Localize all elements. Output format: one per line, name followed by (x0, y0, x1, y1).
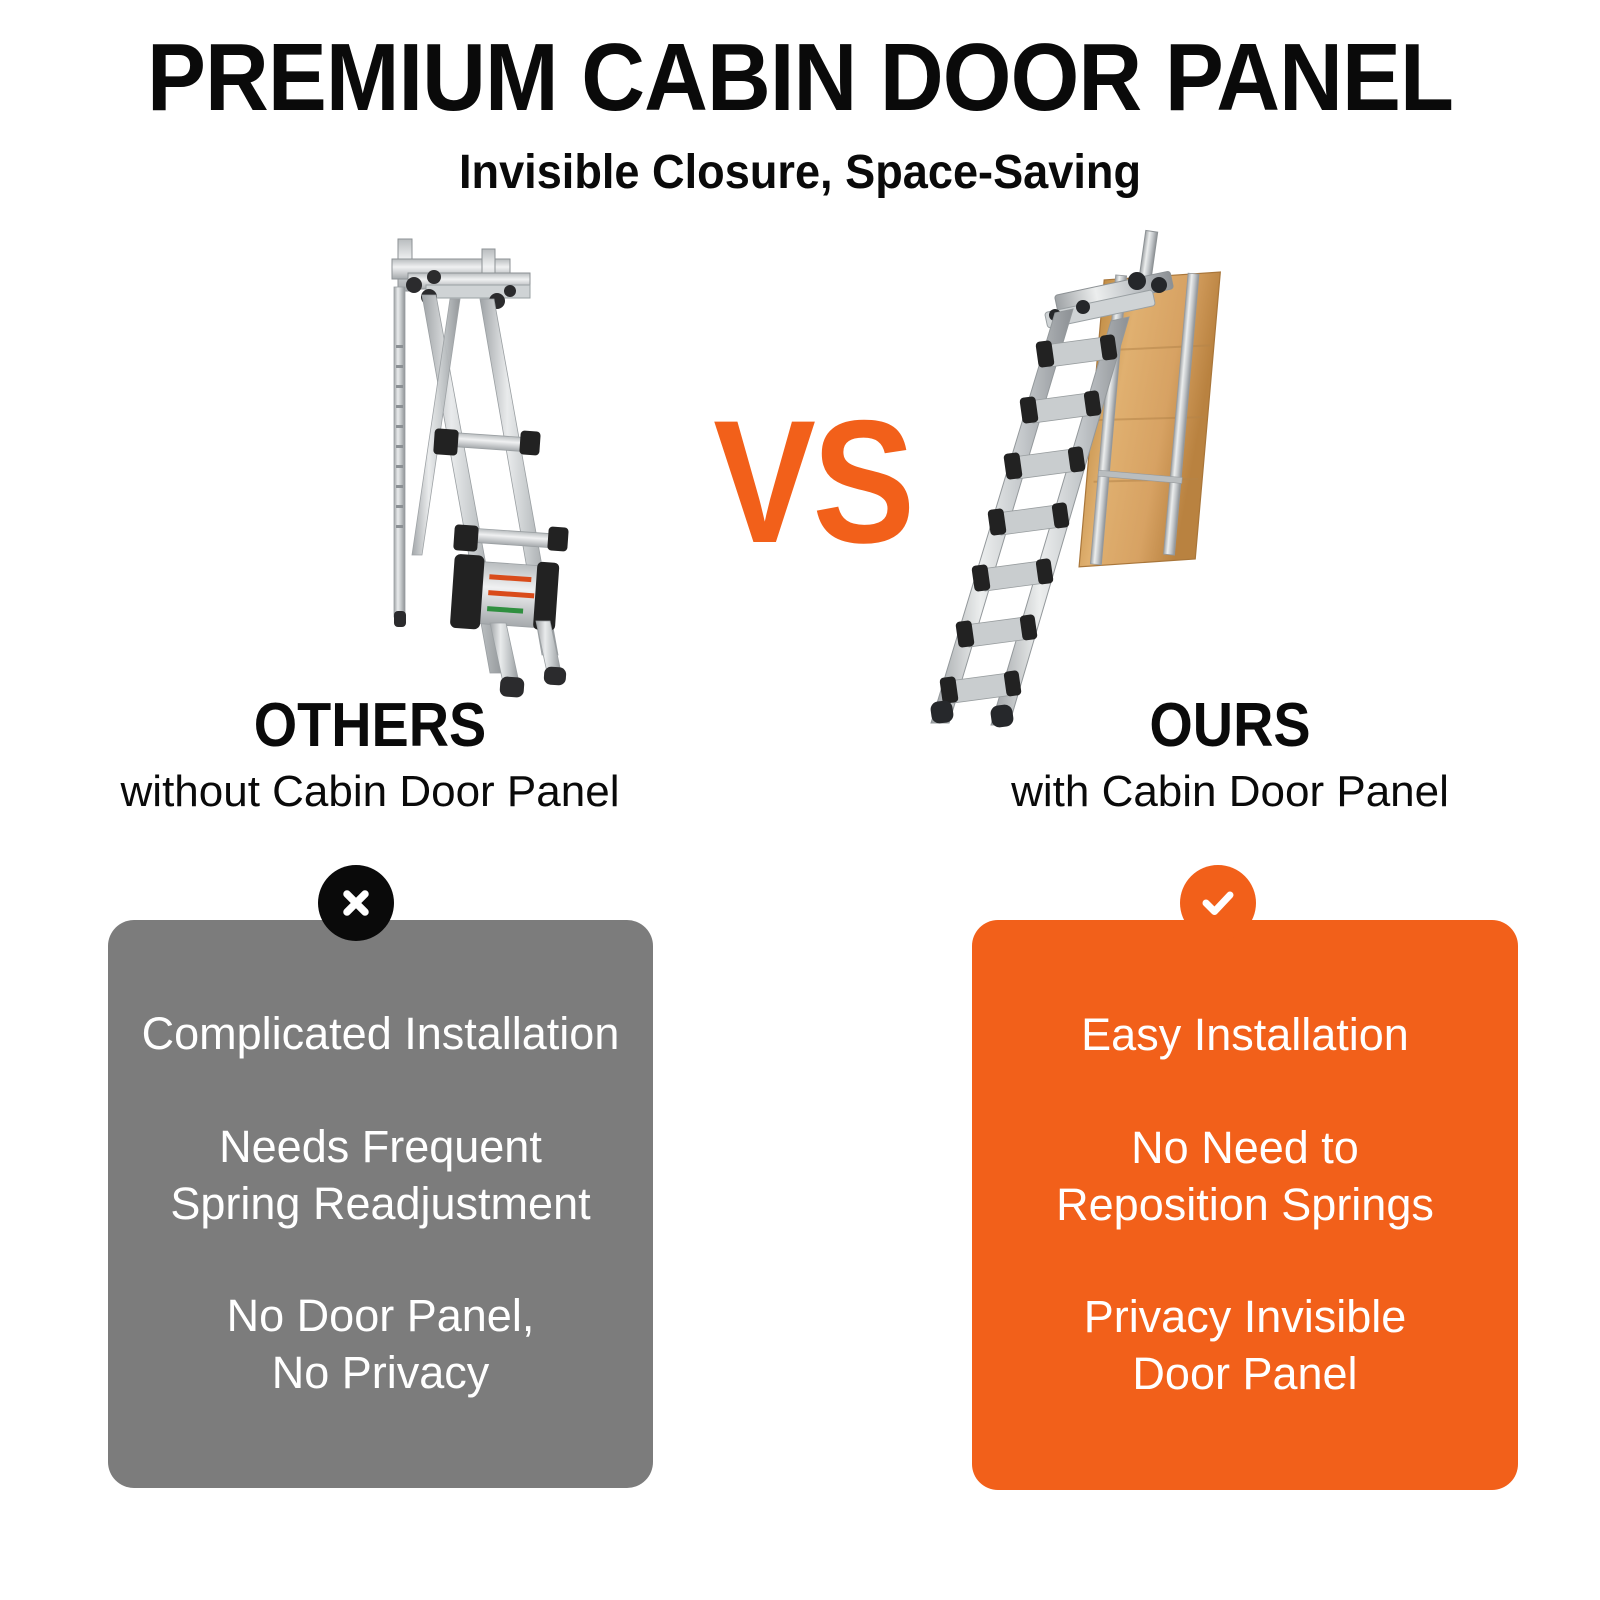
cons-bullet: No Door Panel, No Privacy (134, 1288, 627, 1401)
page-subtitle: Invisible Closure, Space-Saving (48, 145, 1552, 200)
page-title: PREMIUM CABIN DOOR PANEL (64, 28, 1536, 129)
pros-bullet: Privacy Invisible Door Panel (998, 1289, 1492, 1402)
others-title: OTHERS (82, 693, 658, 759)
column-heading-ours: OURS with Cabin Door Panel (910, 693, 1550, 817)
ours-subtitle: with Cabin Door Panel (910, 767, 1550, 818)
pros-bullet: No Need to Reposition Springs (998, 1120, 1492, 1233)
cons-bullet: Complicated Installation (134, 1006, 627, 1063)
cons-card: Complicated Installation Needs Frequent … (108, 920, 653, 1488)
pros-card: Easy Installation No Need to Reposition … (972, 920, 1518, 1490)
check-badge (1180, 865, 1256, 941)
cross-badge (318, 865, 394, 941)
product-image-ours (905, 225, 1285, 730)
check-icon (1196, 881, 1240, 925)
infographic-canvas: PREMIUM CABIN DOOR PANEL Invisible Closu… (0, 0, 1600, 1600)
cons-bullet: Needs Frequent Spring Readjustment (134, 1119, 627, 1232)
cons-bullet-list: Complicated Installation Needs Frequent … (134, 1006, 627, 1401)
column-heading-others: OTHERS without Cabin Door Panel (50, 693, 690, 817)
ladder-with-panel-illustration (905, 225, 1285, 730)
product-image-others (330, 225, 670, 700)
vs-divider-label: VS (713, 395, 907, 570)
ours-title: OURS (942, 693, 1518, 759)
pros-bullet: Easy Installation (998, 1007, 1492, 1064)
pros-bullet-list: Easy Installation No Need to Reposition … (998, 1007, 1492, 1402)
cross-icon (336, 883, 376, 923)
others-subtitle: without Cabin Door Panel (50, 767, 690, 818)
ladder-without-panel-illustration (330, 225, 670, 700)
